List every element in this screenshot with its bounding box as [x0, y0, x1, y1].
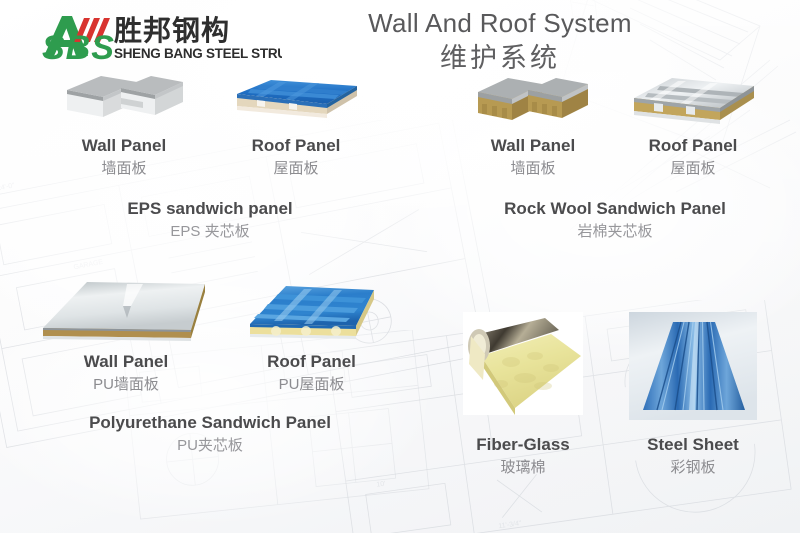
product-item-pu-roof-panel: Roof Panel PU屋面板 [242, 272, 382, 396]
product-name-cn: 屋面板 [628, 158, 758, 180]
product-item-steel-sheet: Steel Sheet 彩钢板 [629, 312, 757, 479]
rockwool-roof-panel-photo [628, 66, 758, 134]
product-item-rockwool-roof-panel: Roof Panel 屋面板 [628, 66, 758, 180]
rockwool-wall-panel-illustration [472, 66, 594, 134]
svg-text:10': 10' [376, 481, 386, 489]
pu-wall-panel-photo [39, 272, 214, 350]
logo-brand-cn: 胜邦钢构 [114, 15, 230, 46]
product-name-cn: 彩钢板 [629, 457, 757, 479]
slide-canvas: GARAGE 19'-6" 24'-0" Q-2 T-3 10 [0, 0, 800, 533]
group-title-cn: PU夹芯板 [30, 435, 390, 457]
product-item-fiber-glass: Fiber-Glass 玻璃棉 [463, 312, 583, 479]
group-title-cn: 岩棉夹芯板 [440, 221, 790, 243]
group-title-en: Rock Wool Sandwich Panel [440, 196, 790, 221]
eps-roof-panel-photo [231, 64, 361, 134]
product-item-rockwool-wall-panel: Wall Panel 墙面板 [472, 66, 594, 180]
product-name-en: Steel Sheet [629, 433, 757, 457]
product-name-cn: 屋面板 [231, 158, 361, 180]
svg-text:24'-0": 24'-0" [0, 182, 16, 192]
eps-wall-panel-photo [59, 64, 189, 134]
product-group-polyurethane: Wall Panel PU墙面板 [30, 318, 390, 457]
product-name-en: Roof Panel [242, 350, 382, 374]
group-title-en: Polyurethane Sandwich Panel [30, 410, 390, 435]
product-item-eps-roof-panel: Roof Panel 屋面板 [231, 64, 361, 180]
svg-text:GARAGE: GARAGE [73, 259, 104, 272]
product-name-en: Wall Panel [39, 350, 214, 374]
steel-sheet-illustration [629, 312, 757, 420]
logo-brand-en: SHENG BANG STEEL STRUCTURE [114, 46, 282, 61]
fiber-glass-illustration [463, 312, 583, 415]
product-name-en: Wall Panel [472, 134, 594, 158]
product-item-pu-wall-panel: Wall Panel PU墙面板 [39, 272, 214, 396]
svg-text:SBS: SBS [42, 29, 115, 67]
eps-roof-panel-illustration [231, 64, 361, 134]
product-name-en: Roof Panel [231, 134, 361, 158]
rockwool-roof-panel-illustration [628, 66, 758, 134]
product-name-en: Roof Panel [628, 134, 758, 158]
product-group-eps: Wall Panel 墙面板 [30, 108, 390, 243]
eps-wall-panel-illustration [59, 64, 189, 134]
pu-roof-panel-illustration [242, 272, 382, 350]
group-title-en: EPS sandwich panel [30, 196, 390, 221]
product-item-eps-wall-panel: Wall Panel 墙面板 [59, 64, 189, 180]
svg-text:11'-3/4": 11'-3/4" [498, 520, 522, 530]
product-name-en: Wall Panel [59, 134, 189, 158]
company-logo: SBS 胜邦钢构 SHENG BANG STEEL STRUCTURE SBS … [14, 6, 282, 68]
product-name-cn: PU墙面板 [39, 374, 214, 396]
steel-sheet-photo [629, 312, 757, 420]
group-title-cn: EPS 夹芯板 [30, 221, 390, 243]
product-group-materials: Fiber-Glass 玻璃棉 [430, 312, 790, 422]
pu-wall-panel-illustration [39, 272, 214, 350]
product-group-rockwool: Wall Panel 墙面板 [440, 108, 790, 243]
logo-artwork: SBS 胜邦钢构 SHENG BANG STEEL STRUCTURE [14, 6, 282, 68]
product-name-cn: 玻璃棉 [463, 457, 583, 479]
slide-title-en: Wall And Roof System [300, 6, 700, 40]
rockwool-wall-panel-photo [472, 66, 594, 134]
pu-roof-panel-photo [242, 272, 382, 350]
product-name-cn: PU屋面板 [242, 374, 382, 396]
product-name-en: Fiber-Glass [463, 433, 583, 457]
product-name-cn: 墙面板 [472, 158, 594, 180]
fiber-glass-photo [463, 312, 583, 415]
product-name-cn: 墙面板 [59, 158, 189, 180]
